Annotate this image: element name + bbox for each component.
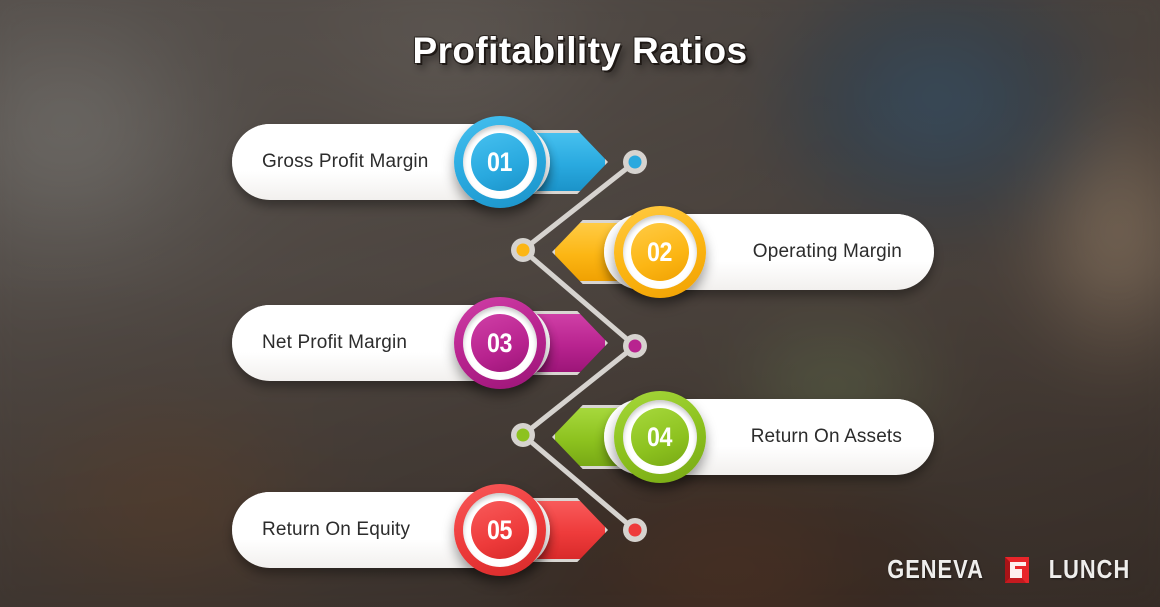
ratio-label: Return On Assets [677,426,902,448]
ratio-row[interactable]: Operating Margin02 [538,200,934,304]
ratio-number-badge[interactable]: 02 [614,206,706,298]
geneva-lunch-g-mark-icon [1002,555,1032,585]
page-title: Profitability Ratios [0,30,1160,72]
ratio-number-badge[interactable]: 01 [454,116,546,208]
ratio-row[interactable]: Return On Equity05 [232,478,622,582]
badge-disc: 04 [631,408,689,466]
ratio-row[interactable]: Return On Assets04 [538,385,934,489]
badge-number: 02 [648,237,673,268]
ratio-label: Net Profit Margin [262,332,485,354]
logo-word-left: GENEVA [887,554,984,585]
badge-disc: 01 [471,133,529,191]
badge-number: 04 [648,422,673,453]
ratio-number-badge[interactable]: 04 [614,391,706,483]
badge-disc: 02 [631,223,689,281]
badge-number: 05 [488,515,513,546]
ratio-row[interactable]: Net Profit Margin03 [232,291,622,395]
infographic-canvas: Profitability Ratios Gross Profit Margin… [0,0,1160,607]
badge-number: 03 [488,328,513,359]
ratio-number-badge[interactable]: 03 [454,297,546,389]
badge-number: 01 [488,147,513,178]
badge-disc: 03 [471,314,529,372]
ratio-label: Operating Margin [679,241,902,263]
ratio-number-badge[interactable]: 05 [454,484,546,576]
badge-disc: 05 [471,501,529,559]
ratio-row[interactable]: Gross Profit Margin01 [232,110,622,214]
brand-logo[interactable]: GENEVA LUNCH [878,554,1138,585]
logo-word-right: LUNCH [1049,554,1130,585]
